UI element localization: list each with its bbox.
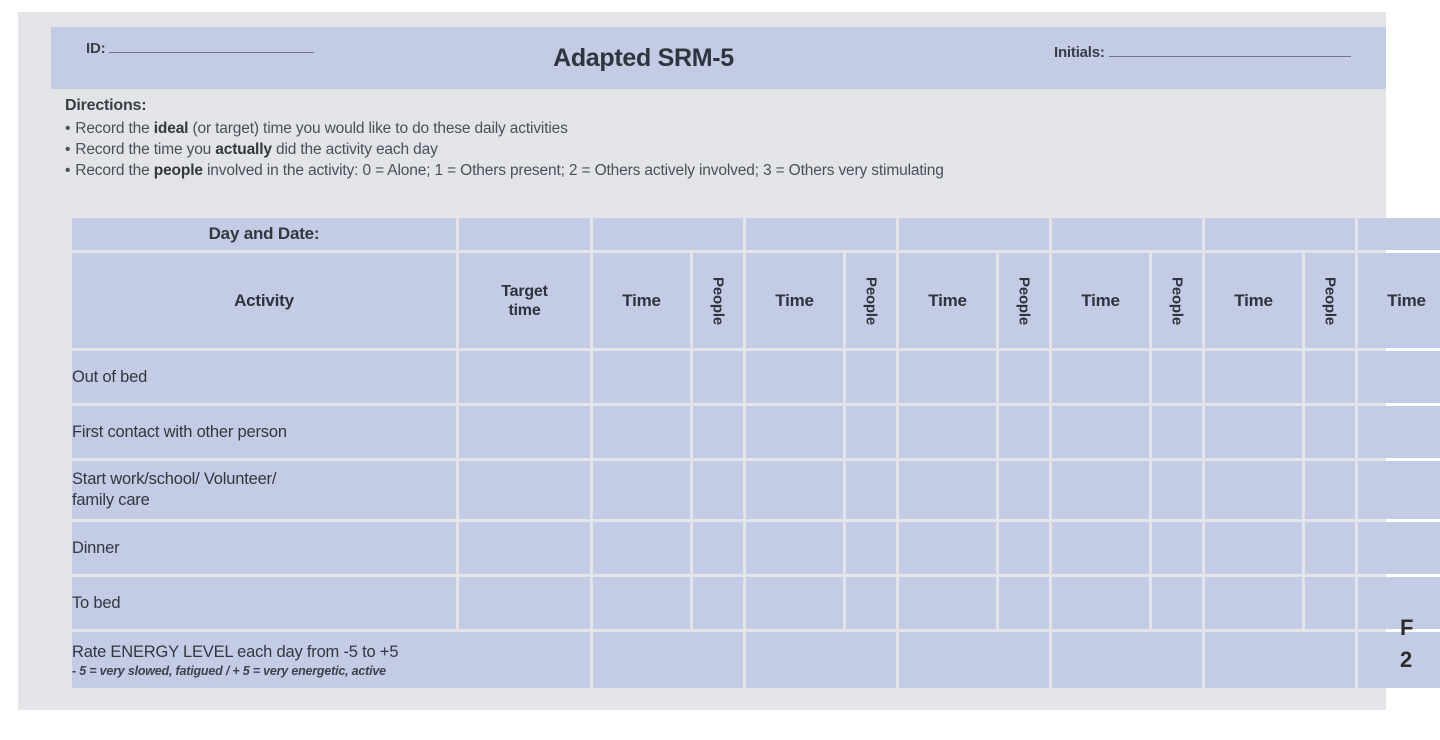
people-input-r2-d1[interactable] — [693, 406, 743, 458]
directions-item-3-bold: people — [154, 162, 203, 179]
people-input-r2-d5[interactable] — [1305, 406, 1355, 458]
energy-level-input-d5[interactable] — [1205, 632, 1355, 688]
time-input-r2-d3[interactable] — [899, 406, 996, 458]
people-column-header-label-2: People — [863, 277, 880, 325]
figure-caption: F 2 — [1400, 612, 1413, 676]
time-input-r3-d1[interactable] — [593, 461, 690, 519]
time-input-r1-d1[interactable] — [593, 351, 690, 403]
id-field-input-rule[interactable] — [109, 41, 314, 53]
target-time-input-3[interactable] — [459, 461, 590, 519]
activity-label-3-line-1: Start work/school/ Volunteer/ — [72, 469, 456, 490]
energy-level-input-d4[interactable] — [1052, 632, 1202, 688]
bullet-icon: • — [65, 162, 70, 179]
people-input-r3-d5[interactable] — [1305, 461, 1355, 519]
people-input-r1-d2[interactable] — [846, 351, 896, 403]
time-input-r5-d5[interactable] — [1205, 577, 1302, 629]
time-input-r4-d6[interactable] — [1358, 522, 1440, 574]
people-input-r1-d4[interactable] — [1152, 351, 1202, 403]
table-row: Start work/school/ Volunteer/family care — [72, 461, 1440, 519]
target-time-header-line2: time — [459, 301, 590, 320]
directions-item-1: •Record the ideal (or target) time you w… — [65, 118, 1395, 139]
people-column-header-label-5: People — [1322, 277, 1339, 325]
people-input-r5-d4[interactable] — [1152, 577, 1202, 629]
directions-item-3-pre: Record the — [75, 162, 153, 179]
energy-level-label: Rate ENERGY LEVEL each day from -5 to +5… — [72, 632, 590, 688]
people-column-header-2: People — [846, 253, 896, 348]
activity-label-3: Start work/school/ Volunteer/family care — [72, 461, 456, 519]
day-and-date-cell-4[interactable] — [1052, 218, 1202, 250]
day-and-date-cell-3[interactable] — [899, 218, 1049, 250]
people-column-header-label-1: People — [710, 277, 727, 325]
directions-block: Directions: •Record the ideal (or target… — [65, 97, 1395, 181]
time-input-r2-d4[interactable] — [1052, 406, 1149, 458]
people-input-r2-d4[interactable] — [1152, 406, 1202, 458]
directions-item-2-bold: actually — [215, 141, 272, 158]
time-input-r3-d6[interactable] — [1358, 461, 1440, 519]
people-input-r4-d3[interactable] — [999, 522, 1049, 574]
time-input-r1-d6[interactable] — [1358, 351, 1440, 403]
directions-item-3-post: involved in the activity: 0 = Alone; 1 =… — [203, 162, 944, 179]
energy-level-input-d2[interactable] — [746, 632, 896, 688]
initials-field-input-rule[interactable] — [1109, 45, 1351, 57]
energy-level-instruction: Rate ENERGY LEVEL each day from -5 to +5 — [72, 642, 590, 662]
figure-caption-line-2: 2 — [1400, 644, 1413, 676]
people-column-header-1: People — [693, 253, 743, 348]
people-input-r5-d5[interactable] — [1305, 577, 1355, 629]
time-input-r2-d1[interactable] — [593, 406, 690, 458]
energy-level-input-d3[interactable] — [899, 632, 1049, 688]
directions-item-3: •Record the people involved in the activ… — [65, 160, 1395, 181]
activity-label-2: First contact with other person — [72, 406, 456, 458]
activity-label-5-line-1: To bed — [72, 593, 456, 614]
time-input-r5-d3[interactable] — [899, 577, 996, 629]
energy-level-scale-note: - 5 = very slowed, fatigued / + 5 = very… — [72, 663, 590, 679]
people-input-r5-d2[interactable] — [846, 577, 896, 629]
time-input-r1-d5[interactable] — [1205, 351, 1302, 403]
time-column-header-5: Time — [1205, 253, 1302, 348]
day-and-date-cell-6[interactable] — [1358, 218, 1440, 250]
people-column-header-3: People — [999, 253, 1049, 348]
people-input-r2-d2[interactable] — [846, 406, 896, 458]
time-input-r4-d5[interactable] — [1205, 522, 1302, 574]
day-and-date-cell-2[interactable] — [746, 218, 896, 250]
time-input-r1-d4[interactable] — [1052, 351, 1149, 403]
target-time-input-5[interactable] — [459, 577, 590, 629]
people-input-r3-d3[interactable] — [999, 461, 1049, 519]
people-input-r3-d4[interactable] — [1152, 461, 1202, 519]
people-column-header-5: People — [1305, 253, 1355, 348]
people-input-r4-d2[interactable] — [846, 522, 896, 574]
id-field[interactable]: ID: — [86, 40, 314, 57]
day-and-date-cell-1[interactable] — [593, 218, 743, 250]
day-and-date-label: Day and Date: — [72, 218, 456, 250]
directions-item-2: •Record the time you actually did the ac… — [65, 139, 1395, 160]
bullet-icon: • — [65, 141, 70, 158]
bullet-icon: • — [65, 120, 70, 137]
time-input-r2-d6[interactable] — [1358, 406, 1440, 458]
activity-label-4: Dinner — [72, 522, 456, 574]
initials-field-label: Initials: — [1054, 44, 1105, 61]
people-input-r1-d1[interactable] — [693, 351, 743, 403]
activity-label-3-line-2: family care — [72, 490, 456, 511]
activity-column-header: Activity — [72, 253, 456, 348]
time-input-r5-d6[interactable] — [1358, 577, 1440, 629]
time-input-r1-d3[interactable] — [899, 351, 996, 403]
table-row: To bed — [72, 577, 1440, 629]
people-input-r2-d3[interactable] — [999, 406, 1049, 458]
page-root: Adapted SRM-5 ID: Initials: Directions: … — [0, 0, 1440, 740]
people-input-r1-d5[interactable] — [1305, 351, 1355, 403]
people-input-r4-d5[interactable] — [1305, 522, 1355, 574]
energy-level-input-d6[interactable] — [1358, 632, 1440, 688]
time-column-header-4: Time — [1052, 253, 1149, 348]
energy-level-row: Rate ENERGY LEVEL each day from -5 to +5… — [72, 632, 1440, 688]
form-header-bar: Adapted SRM-5 ID: Initials: — [51, 27, 1386, 89]
activity-label-2-line-1: First contact with other person — [72, 422, 456, 443]
day-and-date-target-cell[interactable] — [459, 218, 590, 250]
target-time-input-2[interactable] — [459, 406, 590, 458]
people-column-header-label-4: People — [1169, 277, 1186, 325]
column-header-row: Activity Target time TimePeopleTimePeopl… — [72, 253, 1440, 348]
directions-item-1-bold: ideal — [154, 120, 189, 137]
table-row: First contact with other person — [72, 406, 1440, 458]
time-input-r5-d4[interactable] — [1052, 577, 1149, 629]
time-column-header-3: Time — [899, 253, 996, 348]
id-field-label: ID: — [86, 40, 105, 57]
target-time-input-4[interactable] — [459, 522, 590, 574]
time-input-r5-d2[interactable] — [746, 577, 843, 629]
time-input-r4-d3[interactable] — [899, 522, 996, 574]
people-input-r4-d1[interactable] — [693, 522, 743, 574]
time-input-r3-d2[interactable] — [746, 461, 843, 519]
time-input-r3-d4[interactable] — [1052, 461, 1149, 519]
time-input-r1-d2[interactable] — [746, 351, 843, 403]
day-and-date-row: Day and Date: — [72, 218, 1440, 250]
time-input-r2-d2[interactable] — [746, 406, 843, 458]
people-input-r3-d2[interactable] — [846, 461, 896, 519]
people-input-r5-d1[interactable] — [693, 577, 743, 629]
people-input-r3-d1[interactable] — [693, 461, 743, 519]
directions-item-2-post: did the activity each day — [272, 141, 438, 158]
activity-label-1-line-1: Out of bed — [72, 367, 456, 388]
time-input-r4-d2[interactable] — [746, 522, 843, 574]
table-row: Dinner — [72, 522, 1440, 574]
people-input-r5-d3[interactable] — [999, 577, 1049, 629]
time-input-r4-d4[interactable] — [1052, 522, 1149, 574]
initials-field[interactable]: Initials: — [1054, 44, 1351, 61]
time-input-r3-d3[interactable] — [899, 461, 996, 519]
time-input-r2-d5[interactable] — [1205, 406, 1302, 458]
time-input-r5-d1[interactable] — [593, 577, 690, 629]
table-row: Out of bed — [72, 351, 1440, 403]
activity-label-5: To bed — [72, 577, 456, 629]
time-column-header-1: Time — [593, 253, 690, 348]
people-column-header-label-3: People — [1016, 277, 1033, 325]
time-column-header-2: Time — [746, 253, 843, 348]
energy-level-input-d1[interactable] — [593, 632, 743, 688]
directions-item-2-pre: Record the time you — [75, 141, 215, 158]
figure-panel: Adapted SRM-5 ID: Initials: Directions: … — [18, 12, 1386, 710]
directions-item-1-post: (or target) time you would like to do th… — [188, 120, 567, 137]
activity-label-1: Out of bed — [72, 351, 456, 403]
people-input-r1-d3[interactable] — [999, 351, 1049, 403]
figure-caption-line-1: F — [1400, 612, 1413, 644]
target-time-header-line1: Target — [459, 282, 590, 301]
target-time-input-1[interactable] — [459, 351, 590, 403]
people-column-header-4: People — [1152, 253, 1202, 348]
day-and-date-cell-5[interactable] — [1205, 218, 1355, 250]
people-input-r4-d4[interactable] — [1152, 522, 1202, 574]
time-column-header-6: Time — [1358, 253, 1440, 348]
target-time-column-header: Target time — [459, 253, 590, 348]
srm-table: Day and Date: Activity Target time TimeP… — [69, 215, 1440, 691]
directions-heading: Directions: — [65, 97, 1395, 115]
activity-label-4-line-1: Dinner — [72, 538, 456, 559]
directions-item-1-pre: Record the — [75, 120, 153, 137]
time-input-r3-d5[interactable] — [1205, 461, 1302, 519]
time-input-r4-d1[interactable] — [593, 522, 690, 574]
